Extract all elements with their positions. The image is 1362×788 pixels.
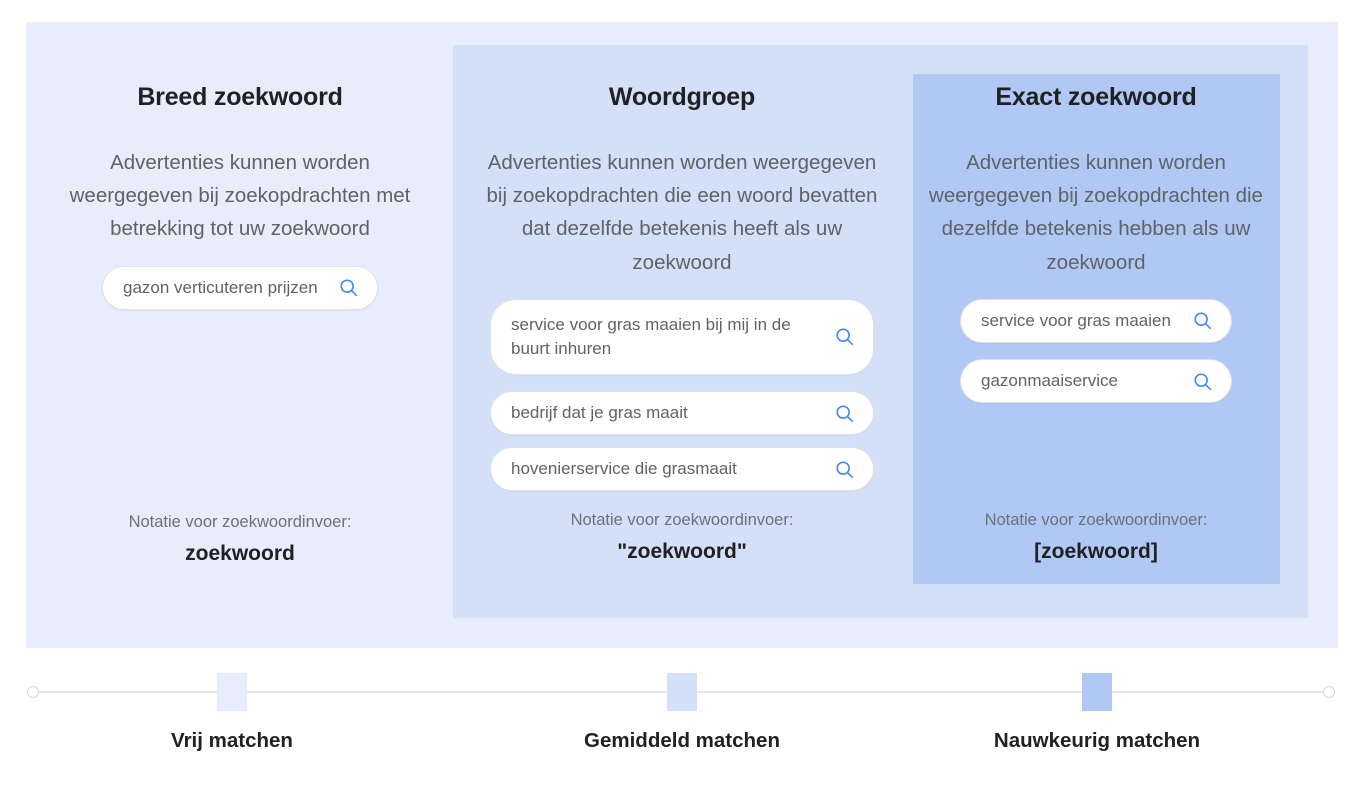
column-description-broad: Advertenties kunnen worden weergegeven b… [62, 146, 418, 246]
column-phrase-keyword: Woordgroep Advertenties kunnen worden we… [482, 82, 882, 503]
notation-broad: Notatie voor zoekwoordinvoer: zoekwoord [62, 512, 418, 567]
search-query-text: service voor gras maaien [981, 309, 1192, 333]
scale-label-exact: Nauwkeurig matchen [937, 729, 1257, 754]
search-query-pill[interactable]: service voor gras maaien bij mij in de b… [490, 299, 874, 375]
column-title-phrase: Woordgroep [482, 82, 882, 112]
scale-endpoint-left-icon [27, 686, 39, 698]
search-query-pill[interactable]: gazon verticuteren prijzen [102, 266, 378, 310]
column-exact-keyword: Exact zoekwoord Advertenties kunnen word… [925, 82, 1267, 415]
column-title-exact: Exact zoekwoord [925, 82, 1267, 112]
search-query-pill[interactable]: gazonmaaiservice [960, 359, 1232, 403]
scale-marker-phrase [667, 673, 697, 711]
column-description-phrase: Advertenties kunnen worden weergegeven b… [482, 146, 882, 279]
search-query-pill[interactable]: bedrijf dat je gras maait [490, 391, 874, 435]
search-icon [834, 459, 855, 480]
notation-value: zoekwoord [62, 541, 418, 566]
search-query-text: bedrijf dat je gras maait [511, 401, 834, 425]
search-query-text: gazonmaaiservice [981, 369, 1192, 393]
scale-marker-broad [217, 673, 247, 711]
scale-endpoint-right-icon [1323, 686, 1335, 698]
search-icon [1192, 371, 1213, 392]
notation-value: [zoekwoord] [925, 539, 1267, 564]
search-icon [1192, 310, 1213, 331]
scale-label-broad: Vrij matchen [72, 729, 392, 754]
query-list-exact: service voor gras maaien gazonmaaiservic… [925, 299, 1267, 403]
notation-label: Notatie voor zoekwoordinvoer: [62, 512, 418, 533]
search-icon [338, 277, 359, 298]
column-broad-keyword: Breed zoekwoord Advertenties kunnen word… [62, 82, 418, 322]
search-icon [834, 326, 855, 347]
scale-label-phrase: Gemiddeld matchen [522, 729, 842, 754]
notation-phrase: Notatie voor zoekwoordinvoer: "zoekwoord… [482, 510, 882, 565]
search-query-text: hovenierservice die grasmaait [511, 457, 834, 481]
column-title-broad: Breed zoekwoord [62, 82, 418, 112]
scale-marker-exact [1082, 673, 1112, 711]
notation-label: Notatie voor zoekwoordinvoer: [482, 510, 882, 531]
query-list-phrase: service voor gras maaien bij mij in de b… [482, 299, 882, 492]
notation-exact: Notatie voor zoekwoordinvoer: [zoekwoord… [925, 510, 1267, 565]
column-description-exact: Advertenties kunnen worden weergegeven b… [925, 146, 1267, 279]
match-precision-scale: Vrij matchen Gemiddeld matchen Nauwkeuri… [0, 648, 1362, 788]
search-icon [834, 403, 855, 424]
search-query-text: service voor gras maaien bij mij in de b… [511, 313, 834, 361]
search-query-text: gazon verticuteren prijzen [123, 276, 338, 300]
query-list-broad: gazon verticuteren prijzen [62, 266, 418, 310]
notation-label: Notatie voor zoekwoordinvoer: [925, 510, 1267, 531]
notation-value: "zoekwoord" [482, 539, 882, 564]
match-types-diagram: Breed zoekwoord Advertenties kunnen word… [0, 0, 1362, 788]
search-query-pill[interactable]: hovenierservice die grasmaait [490, 447, 874, 491]
search-query-pill[interactable]: service voor gras maaien [960, 299, 1232, 343]
